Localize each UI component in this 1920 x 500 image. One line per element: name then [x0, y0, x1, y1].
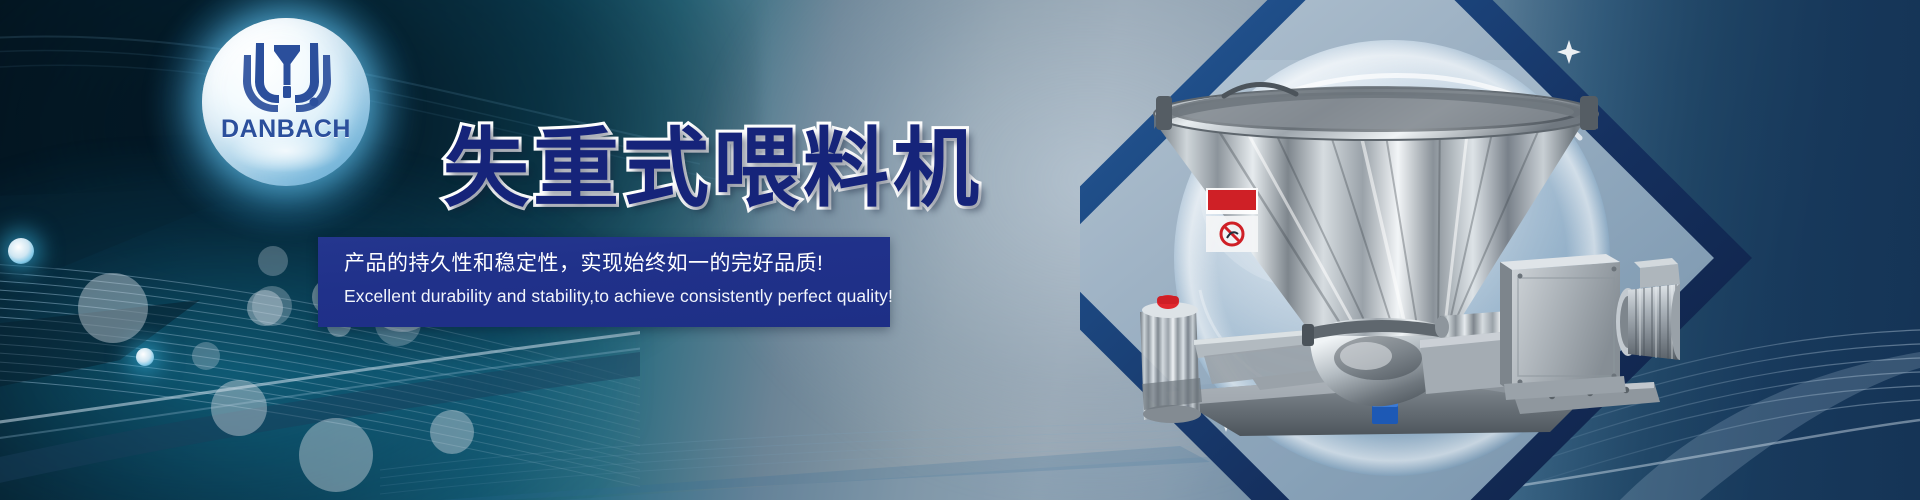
gear-motor-icon: [1616, 258, 1680, 360]
hopper-clamp-ring-icon: [1156, 96, 1172, 130]
subtitle-chinese: 产品的持久性和稳定性，实现始终如一的完好品质!: [344, 250, 864, 277]
control-box-icon: [1500, 254, 1626, 400]
loss-in-weight-feeder-icon: [1120, 40, 1680, 460]
product-hero-banner: DANBACH 失重式喂料机 产品的持久性和稳定性，实现始终如一的完好品质! E…: [0, 0, 1920, 500]
subtitle-english: Excellent durability and stability,to ac…: [344, 284, 864, 309]
page-title: 失重式喂料机: [443, 126, 983, 212]
bubble-11: [430, 410, 474, 454]
bubble-3: [211, 380, 267, 436]
brand-logo[interactable]: DANBACH: [180, 10, 388, 200]
bubble-bright-2: [136, 348, 154, 366]
brand-name: DANBACH: [202, 115, 370, 144]
bubble-2: [192, 342, 220, 370]
bubble-bright-1: [8, 238, 34, 264]
bubble-6: [252, 286, 292, 326]
danbach-monogram-icon: [234, 38, 340, 116]
bubble-12: [258, 246, 288, 276]
warning-label-icon: [1206, 188, 1258, 252]
bubble-1: [78, 273, 148, 343]
bubble-5: [299, 418, 373, 492]
subtitle-panel: 产品的持久性和稳定性，实现始终如一的完好品质! Excellent durabi…: [318, 237, 890, 327]
